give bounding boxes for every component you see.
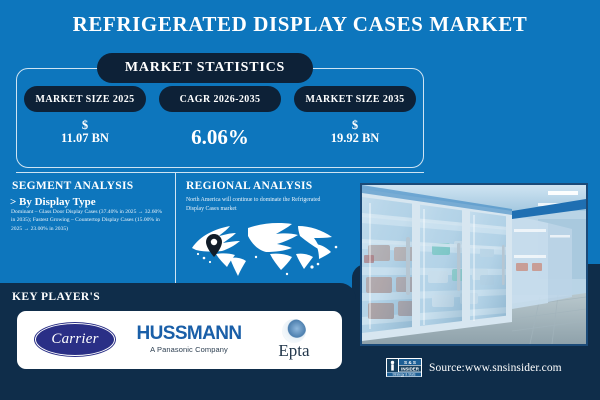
svg-text:Strategy & Stats: Strategy & Stats	[392, 373, 415, 377]
stat-value-market-size-2035: $ 19.92 BN	[288, 119, 422, 145]
regional-analysis-body: North America will continue to dominate …	[186, 196, 336, 213]
source-row: S & S INSIDER Strategy & Stats Source:ww…	[386, 358, 562, 377]
key-players-heading: KEY PLAYER'S	[12, 291, 100, 303]
stat-label-market-size-2025: MARKET SIZE 2025	[24, 86, 146, 112]
stat-label-cagr: CAGR 2026-2035	[159, 86, 281, 112]
amount-2035: 19.92 BN	[331, 131, 380, 145]
refrigerated-display-cases-photo	[360, 183, 588, 346]
segment-analysis-heading: SEGMENT ANALYSIS	[12, 180, 133, 192]
infographic-root: REFRIGERATED DISPLAY CASES MARKET MARKET…	[0, 0, 600, 400]
stat-value-cagr: 6.06%	[153, 123, 287, 151]
world-map-icon	[186, 214, 346, 278]
stat-market-size-2035: MARKET SIZE 2035 $ 19.92 BN	[288, 86, 422, 145]
logo-epta: Epta	[262, 319, 326, 360]
logo-hussmann: HUSSMANN A Panasonic Company	[125, 324, 253, 354]
page-title: REFRIGERATED DISPLAY CASES MARKET	[0, 12, 600, 37]
svg-text:S & S: S & S	[404, 360, 416, 365]
epta-sphere-icon	[282, 319, 306, 343]
stat-value-market-size-2025: $ 11.07 BN	[18, 119, 152, 145]
logo-carrier: Carrier	[35, 323, 115, 356]
stat-market-size-2025: MARKET SIZE 2025 $ 11.07 BN	[18, 86, 152, 145]
stat-cagr: CAGR 2026-2035 6.06%	[153, 86, 287, 151]
stat-label-market-size-2035: MARKET SIZE 2035	[294, 86, 416, 112]
segment-analysis-body: Dominant – Glass Door Display Cases (37.…	[11, 208, 163, 233]
svg-text:INSIDER: INSIDER	[401, 366, 420, 371]
logo-carrier-text: Carrier	[51, 331, 98, 348]
sns-insider-logo: S & S INSIDER Strategy & Stats	[386, 358, 422, 377]
regional-analysis-heading: REGIONAL ANALYSIS	[186, 180, 312, 192]
source-text: Source:www.snsinsider.com	[429, 362, 562, 374]
segment-analysis-subheading: > By Display Type	[10, 196, 96, 208]
amount-2025: 11.07 BN	[61, 131, 109, 145]
logo-hussmann-tagline: A Panasonic Company	[125, 345, 253, 354]
horizontal-divider	[16, 172, 424, 173]
market-statistics-badge: MARKET STATISTICS	[97, 53, 313, 83]
key-players-card: Carrier HUSSMANN A Panasonic Company Ept…	[17, 311, 342, 369]
logo-epta-text: Epta	[262, 342, 326, 360]
vertical-divider	[175, 172, 176, 283]
logo-hussmann-text: HUSSMANN	[125, 324, 253, 344]
